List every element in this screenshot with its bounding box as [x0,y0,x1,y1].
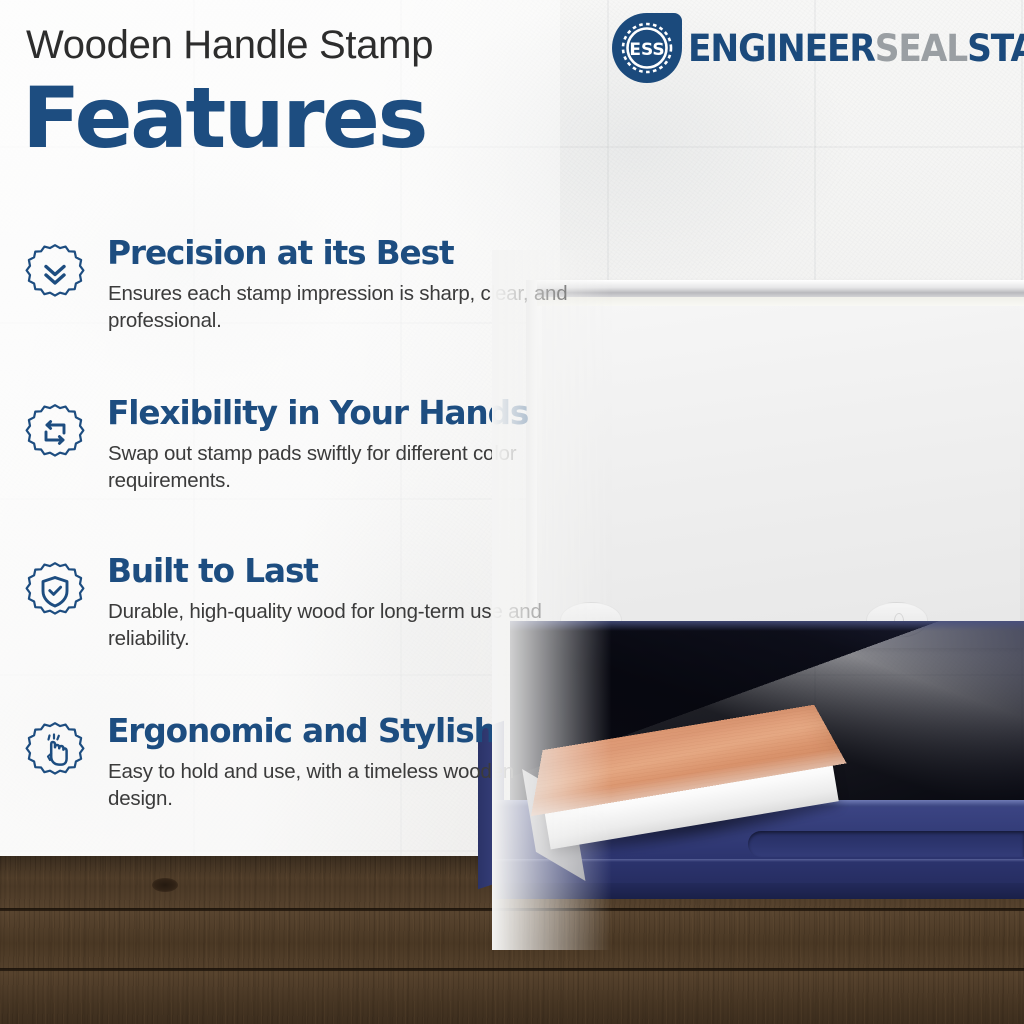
infographic-canvas: ESS Wooden Handle Stamp Features ESS ENG… [0,0,1024,1024]
box-lid [536,280,1024,648]
brand-logo[interactable]: ESS ENGINEER SEAL STAMPS .COM [612,12,1016,84]
wood-knot [152,878,178,892]
feature-title: Ergonomic and Stylish [16,714,570,749]
page-subtitle: Wooden Handle Stamp [26,23,433,68]
felt-rim-light [510,621,1024,631]
feature-title: Flexibility in Your Hands [16,396,570,431]
page-title: Features [22,78,426,159]
badge-text: ESS [629,40,664,60]
feature-item: Precision at its Best Ensures each stamp… [16,236,576,386]
box-lid-rim-inner [536,297,1024,306]
feature-description: Durable, high-quality wood for long-term… [16,598,576,653]
wordmark-stamps: STAMPS [967,27,1024,70]
brand-wordmark: ENGINEER SEAL STAMPS [688,27,1024,70]
feature-item: Built to Last Durable, high-quality wood… [16,554,576,704]
wood-plank-seam [0,968,1024,971]
ess-gear-badge-icon: ESS [612,13,682,83]
wordmark-seal: SEAL [875,27,967,70]
box-lid-inner-face [542,306,1020,648]
feature-description: Easy to hold and use, with a timeless wo… [16,758,576,813]
box-lid-rim [536,280,1024,297]
feature-list: Precision at its Best Ensures each stamp… [16,236,576,864]
wordmark-engineer: ENGINEER [688,27,875,70]
feature-title: Built to Last [16,554,570,589]
feature-description: Ensures each stamp impression is sharp, … [16,280,576,335]
feature-description: Swap out stamp pads swiftly for differen… [16,440,576,495]
feature-item: Ergonomic and Stylish Easy to hold and u… [16,714,576,864]
feature-item: Flexibility in Your Hands Swap out stamp… [16,396,576,546]
feature-title: Precision at its Best [16,236,570,271]
